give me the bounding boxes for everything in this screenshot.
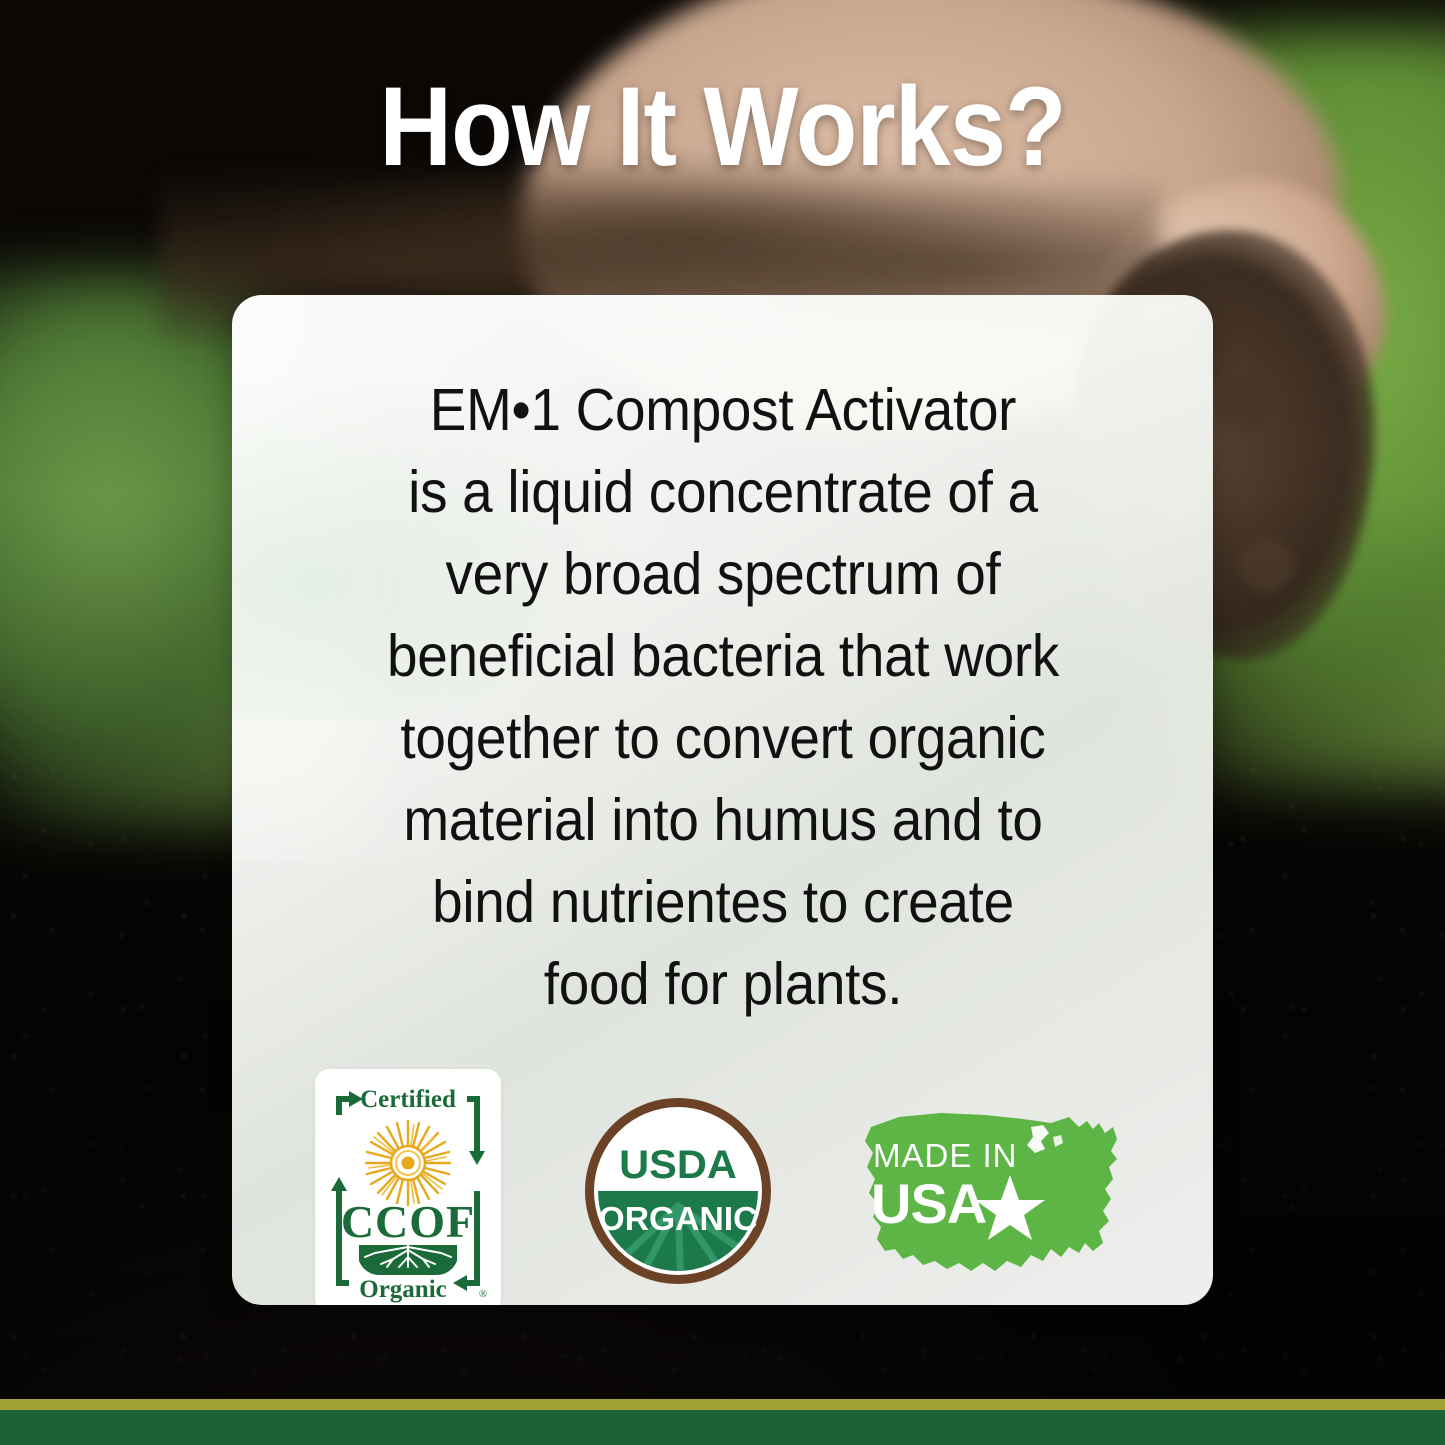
content-card: EM•1 Compost Activator is a liquid conce… bbox=[232, 295, 1213, 1305]
description-line: bind nutrientes to create bbox=[337, 861, 1109, 943]
svg-text:CCOF: CCOF bbox=[340, 1196, 474, 1247]
description-line: food for plants. bbox=[337, 943, 1109, 1025]
description-line: very broad spectrum of bbox=[337, 533, 1109, 615]
description-line: is a liquid concentrate of a bbox=[337, 451, 1109, 533]
svg-text:MADE IN: MADE IN bbox=[873, 1137, 1018, 1174]
description-line: together to convert organic bbox=[337, 697, 1109, 779]
svg-text:USDA: USDA bbox=[619, 1142, 737, 1187]
description-line: material into humus and to bbox=[337, 779, 1109, 861]
svg-text:USA: USA bbox=[871, 1172, 986, 1235]
svg-text:Organic: Organic bbox=[359, 1276, 447, 1303]
certification-badge-row: Certified bbox=[232, 1069, 1213, 1305]
ccof-certified-organic-badge: Certified bbox=[315, 1069, 501, 1305]
infographic-stage: How It Works? EM•1 Compost Activator is … bbox=[0, 0, 1445, 1445]
svg-text:®: ® bbox=[478, 1288, 486, 1300]
usda-organic-badge: USDA ORGANIC bbox=[581, 1094, 775, 1288]
footer-green-bar bbox=[0, 1410, 1445, 1445]
svg-text:Certified: Certified bbox=[360, 1086, 456, 1113]
page-title: How It Works? bbox=[72, 68, 1373, 186]
footer-olive-stripe bbox=[0, 1399, 1445, 1410]
description-line: EM•1 Compost Activator bbox=[337, 369, 1109, 451]
made-in-usa-badge: MADE IN USA bbox=[855, 1093, 1131, 1289]
svg-text:ORGANIC: ORGANIC bbox=[598, 1201, 757, 1238]
description-line: beneficial bacteria that work bbox=[337, 615, 1109, 697]
product-description: EM•1 Compost Activator is a liquid conce… bbox=[337, 369, 1109, 1025]
